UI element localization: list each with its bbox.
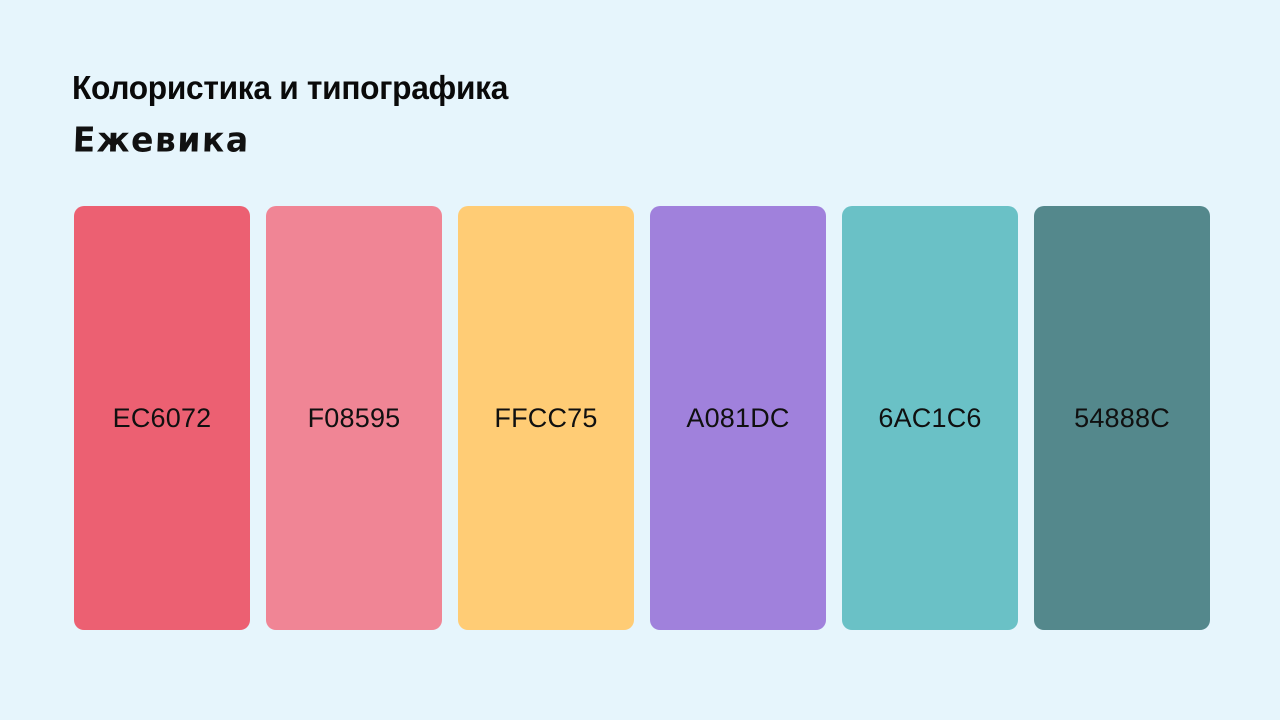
- color-swatch[interactable]: F08595: [266, 206, 442, 630]
- color-swatch[interactable]: 54888C: [1034, 206, 1210, 630]
- color-swatch[interactable]: FFCC75: [458, 206, 634, 630]
- color-swatch-label: EC6072: [113, 405, 212, 432]
- color-palette-slide: Колористика и типографика Ежевика EC6072…: [0, 0, 1280, 720]
- color-swatch-label: FFCC75: [494, 405, 597, 432]
- color-swatch-label: 54888C: [1074, 405, 1170, 432]
- page-subtitle: Ежевика: [72, 117, 974, 163]
- page-title: Колористика и типографика: [72, 68, 936, 108]
- color-swatch-label: A081DC: [686, 405, 789, 432]
- color-swatch-label: F08595: [308, 405, 401, 432]
- color-swatch-row: EC6072F08595FFCC75A081DC6AC1C654888C: [74, 206, 1210, 630]
- color-swatch[interactable]: 6AC1C6: [842, 206, 1018, 630]
- color-swatch[interactable]: A081DC: [650, 206, 826, 630]
- color-swatch[interactable]: EC6072: [74, 206, 250, 630]
- heading-block: Колористика и типографика Ежевика: [72, 68, 972, 163]
- color-swatch-label: 6AC1C6: [878, 405, 981, 432]
